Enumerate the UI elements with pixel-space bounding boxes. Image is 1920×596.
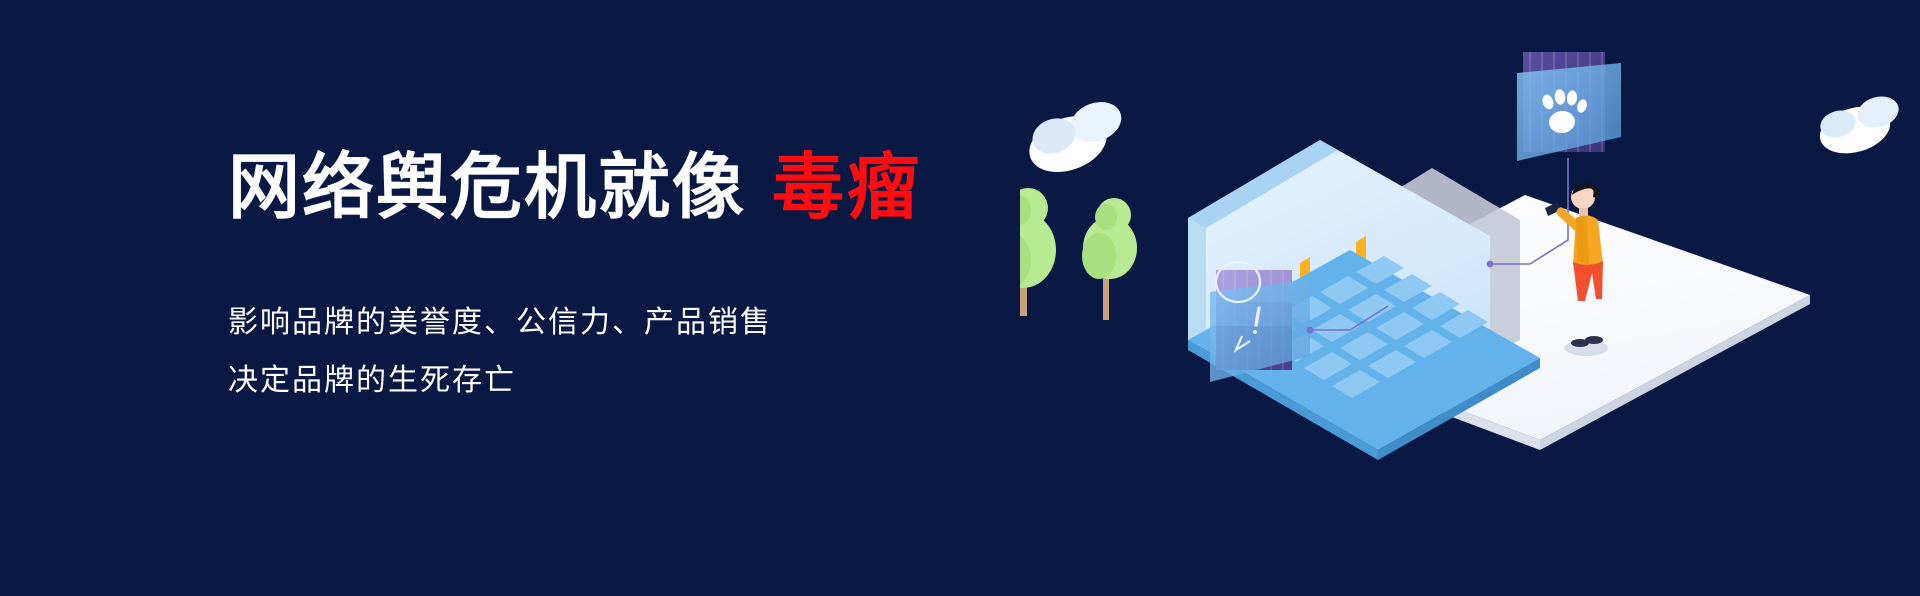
hero-illustration (1020, 40, 1920, 560)
page-title: 网络舆危机就像毒瘤 (228, 150, 988, 228)
tree-left (1020, 188, 1056, 316)
person-jacket-shade (1576, 216, 1589, 264)
person-shoe-right (1585, 336, 1603, 344)
subtitle-block: 影响品牌的美誉度、公信力、产品销售 决定品牌的生死存亡 (228, 294, 988, 411)
headline-main: 网络舆危机就像 (228, 148, 746, 228)
hero-banner: 网络舆危机就像毒瘤 影响品牌的美誉度、公信力、产品销售 决定品牌的生死存亡 (0, 0, 1920, 596)
subtitle-line-1: 影响品牌的美誉度、公信力、产品销售 (228, 294, 988, 353)
hero-text-block: 网络舆危机就像毒瘤 影响品牌的美誉度、公信力、产品销售 决定品牌的生死存亡 (228, 150, 988, 411)
cloud-large-left (1022, 95, 1127, 182)
headline-accent: 毒瘤 (772, 148, 922, 228)
person-neck (1579, 208, 1588, 216)
cloud-small-right (1814, 92, 1902, 161)
paw-panel (1517, 52, 1621, 161)
tree-right (1082, 198, 1137, 320)
subtitle-line-2: 决定品牌的生死存亡 (228, 352, 988, 411)
